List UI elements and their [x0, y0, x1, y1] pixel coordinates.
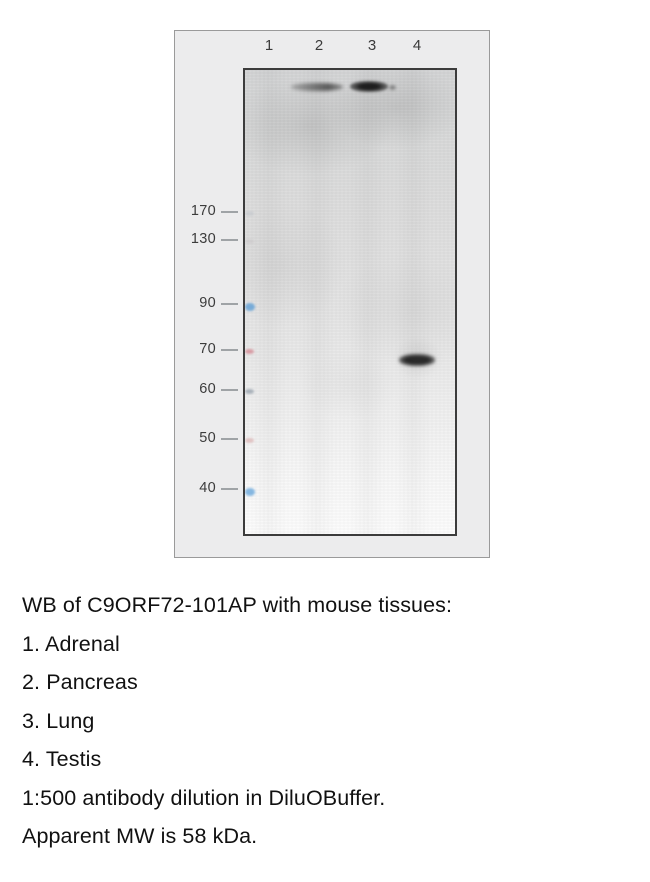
- lane-3-top-band: [350, 81, 388, 92]
- blot-image-box: [243, 68, 457, 536]
- mw-tick-70: [221, 349, 238, 351]
- lane-number-3: 3: [361, 37, 383, 54]
- molecular-weight-ladder: 170 130 90 70 60 50 40: [175, 31, 244, 559]
- mw-tick-170: [221, 211, 238, 213]
- western-blot-figure-panel: 1 2 3 4 170 130 90 70 60 50 40: [174, 30, 490, 558]
- mw-tick-130: [221, 239, 238, 241]
- caption-title: WB of C9ORF72-101AP with mouse tissues:: [22, 586, 642, 625]
- lane-number-1: 1: [258, 37, 280, 54]
- lane-number-2: 2: [308, 37, 330, 54]
- lane-number-4: 4: [406, 37, 428, 54]
- caption-sample-4: 4. Testis: [22, 740, 642, 779]
- marker-dot-170: [245, 211, 254, 216]
- mw-tick-60: [221, 389, 238, 391]
- figure-caption: WB of C9ORF72-101AP with mouse tissues: …: [22, 586, 642, 856]
- mw-label-130: 130: [176, 231, 216, 247]
- mw-tick-40: [221, 488, 238, 490]
- marker-dot-90: [245, 303, 255, 311]
- mw-tick-50: [221, 438, 238, 440]
- caption-sample-2: 2. Pancreas: [22, 663, 642, 702]
- lane-4-top-speck: [388, 84, 397, 91]
- caption-dilution: 1:500 antibody dilution in DiluOBuffer.: [22, 779, 642, 818]
- lane-2-top-band: [291, 83, 343, 91]
- mw-label-70: 70: [176, 341, 216, 357]
- caption-sample-3: 3. Lung: [22, 702, 642, 741]
- mw-label-50: 50: [176, 430, 216, 446]
- caption-apparent-mw: Apparent MW is 58 kDa.: [22, 817, 642, 856]
- mw-label-40: 40: [176, 480, 216, 496]
- marker-dot-60: [245, 389, 254, 394]
- lane-number-row: 1 2 3 4: [244, 37, 456, 65]
- blot-texture-noise: [245, 70, 455, 534]
- marker-dot-70: [245, 349, 254, 354]
- mw-label-170: 170: [176, 203, 216, 219]
- marker-dot-40: [245, 488, 255, 496]
- mw-label-60: 60: [176, 381, 216, 397]
- mw-tick-90: [221, 303, 238, 305]
- marker-dot-130: [245, 239, 254, 244]
- marker-dot-50: [245, 438, 254, 443]
- lane-4-band-halo: [395, 338, 441, 378]
- caption-sample-1: 1. Adrenal: [22, 625, 642, 664]
- mw-label-90: 90: [176, 295, 216, 311]
